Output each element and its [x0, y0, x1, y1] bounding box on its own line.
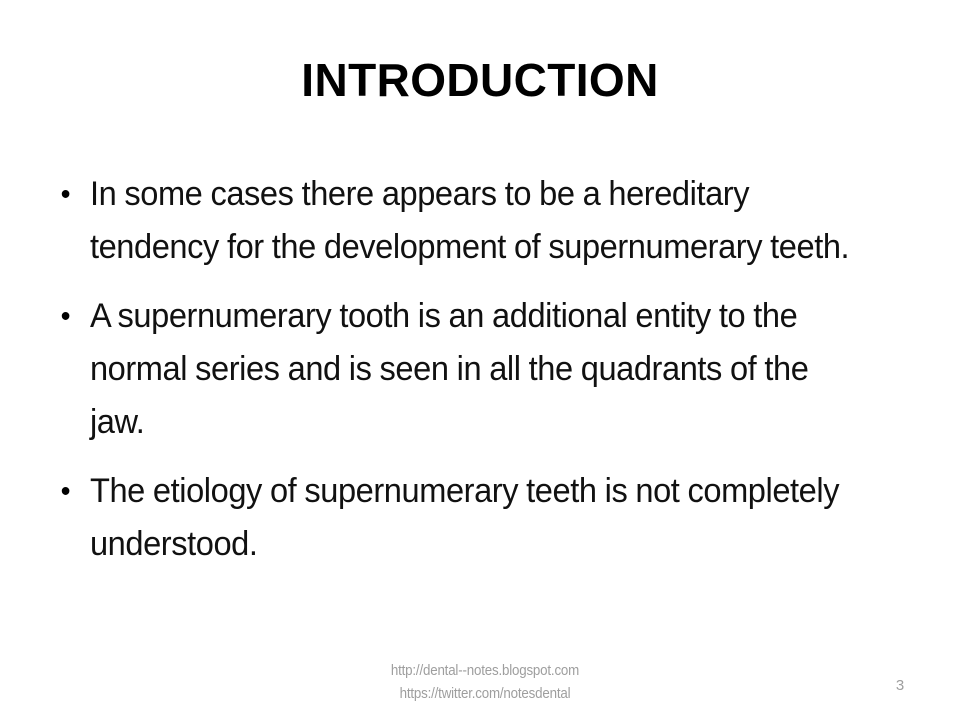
slide-canvas: INTRODUCTION • In some cases there appea…: [0, 0, 960, 720]
bullet-dot-icon: •: [61, 168, 80, 221]
page-number: 3: [880, 676, 920, 696]
bullet-dot-icon: •: [61, 465, 80, 518]
list-item-text: A supernumerary tooth is an additional e…: [90, 290, 858, 449]
list-item: • A supernumerary tooth is an additional…: [55, 290, 858, 449]
bullet-dot-icon: •: [61, 290, 80, 343]
list-item-text: In some cases there appears to be a here…: [90, 168, 858, 274]
footer-url-twitter[interactable]: https://twitter.com/notesdental: [342, 683, 627, 706]
list-item: • In some cases there appears to be a he…: [55, 168, 858, 274]
bullet-list: • In some cases there appears to be a he…: [55, 168, 905, 571]
footer-url-blog[interactable]: http://dental--notes.blogspot.com: [342, 660, 627, 683]
list-item-text: The etiology of supernumerary teeth is n…: [90, 465, 858, 571]
footer-url-block: http://dental--notes.blogspot.com https:…: [342, 660, 627, 706]
page-title: INTRODUCTION: [60, 52, 900, 108]
list-item: • The etiology of supernumerary teeth is…: [55, 465, 858, 571]
